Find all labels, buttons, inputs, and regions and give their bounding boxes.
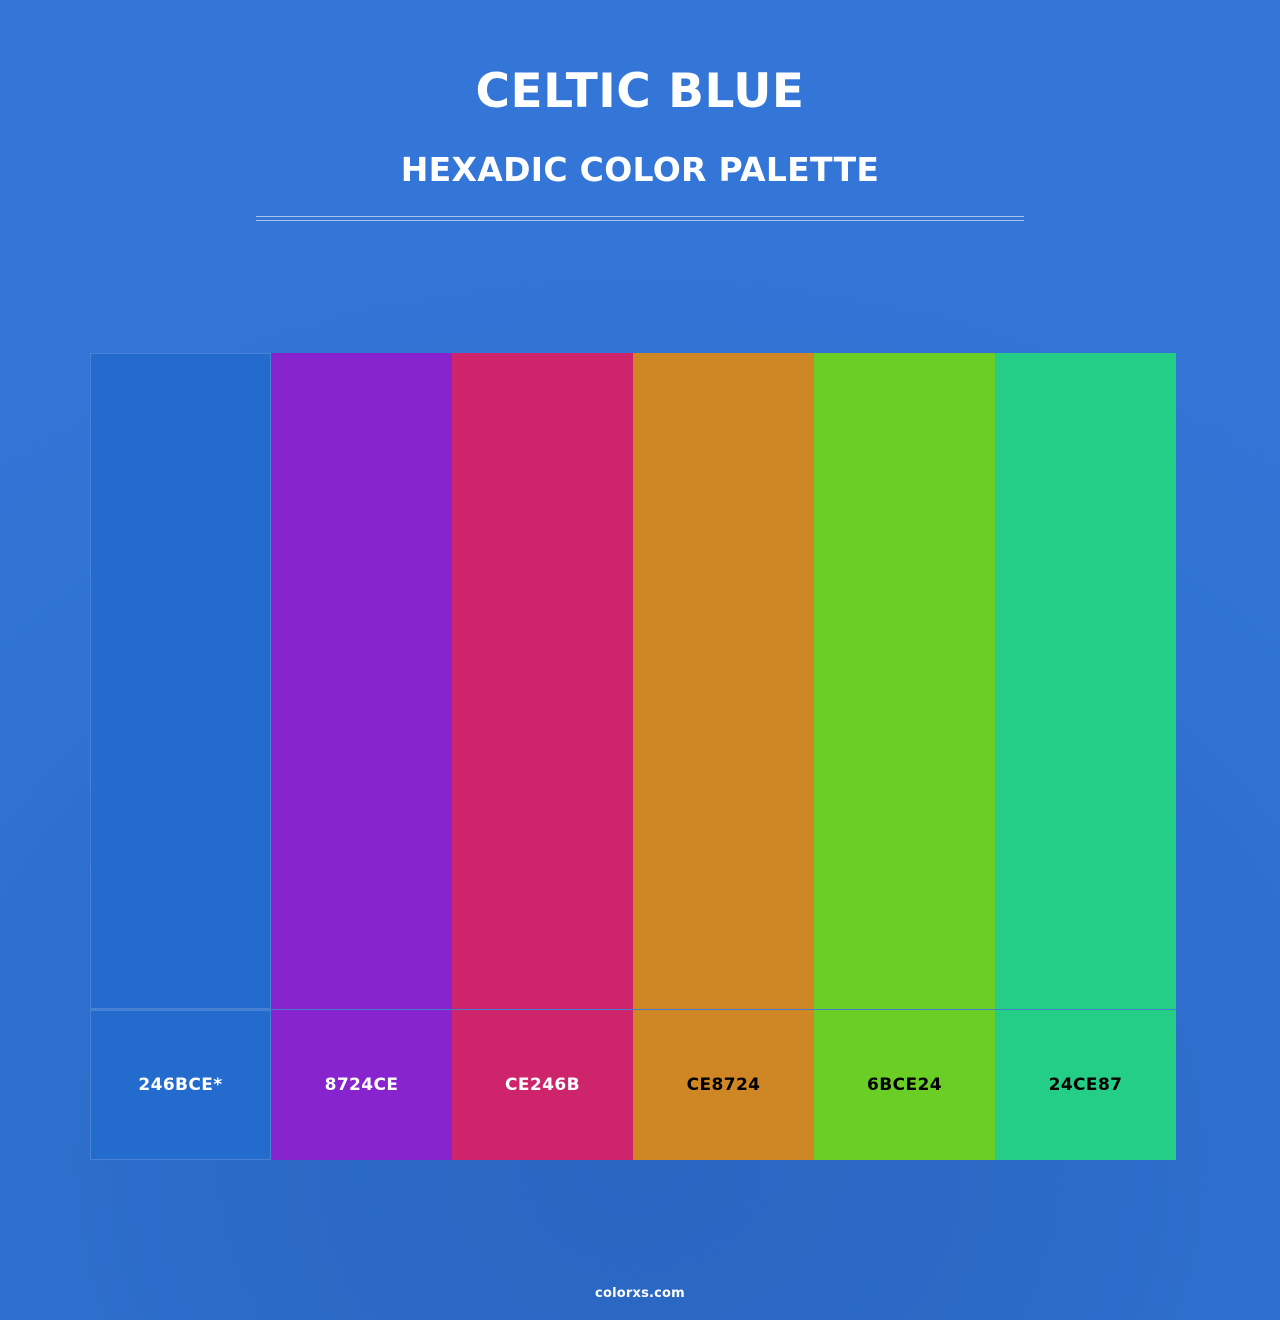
color-swatch[interactable] <box>995 353 1176 1009</box>
color-swatch[interactable] <box>633 353 814 1009</box>
color-swatch[interactable] <box>271 353 452 1009</box>
color-hex-label[interactable]: CE246B <box>452 1010 633 1160</box>
color-hex-label[interactable]: CE8724 <box>633 1010 814 1160</box>
color-swatch[interactable] <box>452 353 633 1009</box>
color-hex-label[interactable]: 6BCE24 <box>814 1010 995 1160</box>
color-hex-label[interactable]: 8724CE <box>271 1010 452 1160</box>
color-swatch[interactable] <box>814 353 995 1009</box>
swatch-label-row: 246BCE* 8724CE CE246B CE8724 6BCE24 24CE… <box>90 1009 1176 1160</box>
swatch-row <box>90 353 1176 1009</box>
page-header: CELTIC BLUE HEXADIC COLOR PALETTE <box>0 0 1280 221</box>
page-title: CELTIC BLUE <box>475 68 804 115</box>
page-subtitle: HEXADIC COLOR PALETTE <box>401 153 879 186</box>
palette-page: CELTIC BLUE HEXADIC COLOR PALETTE 246BCE… <box>0 0 1280 1320</box>
color-hex-label[interactable]: 24CE87 <box>995 1010 1176 1160</box>
color-hex-label[interactable]: 246BCE* <box>90 1010 271 1160</box>
header-divider <box>256 216 1024 221</box>
color-palette: 246BCE* 8724CE CE246B CE8724 6BCE24 24CE… <box>90 353 1176 1160</box>
color-swatch[interactable] <box>90 353 271 1009</box>
footer-site-name: colorxs.com <box>0 1286 1280 1301</box>
